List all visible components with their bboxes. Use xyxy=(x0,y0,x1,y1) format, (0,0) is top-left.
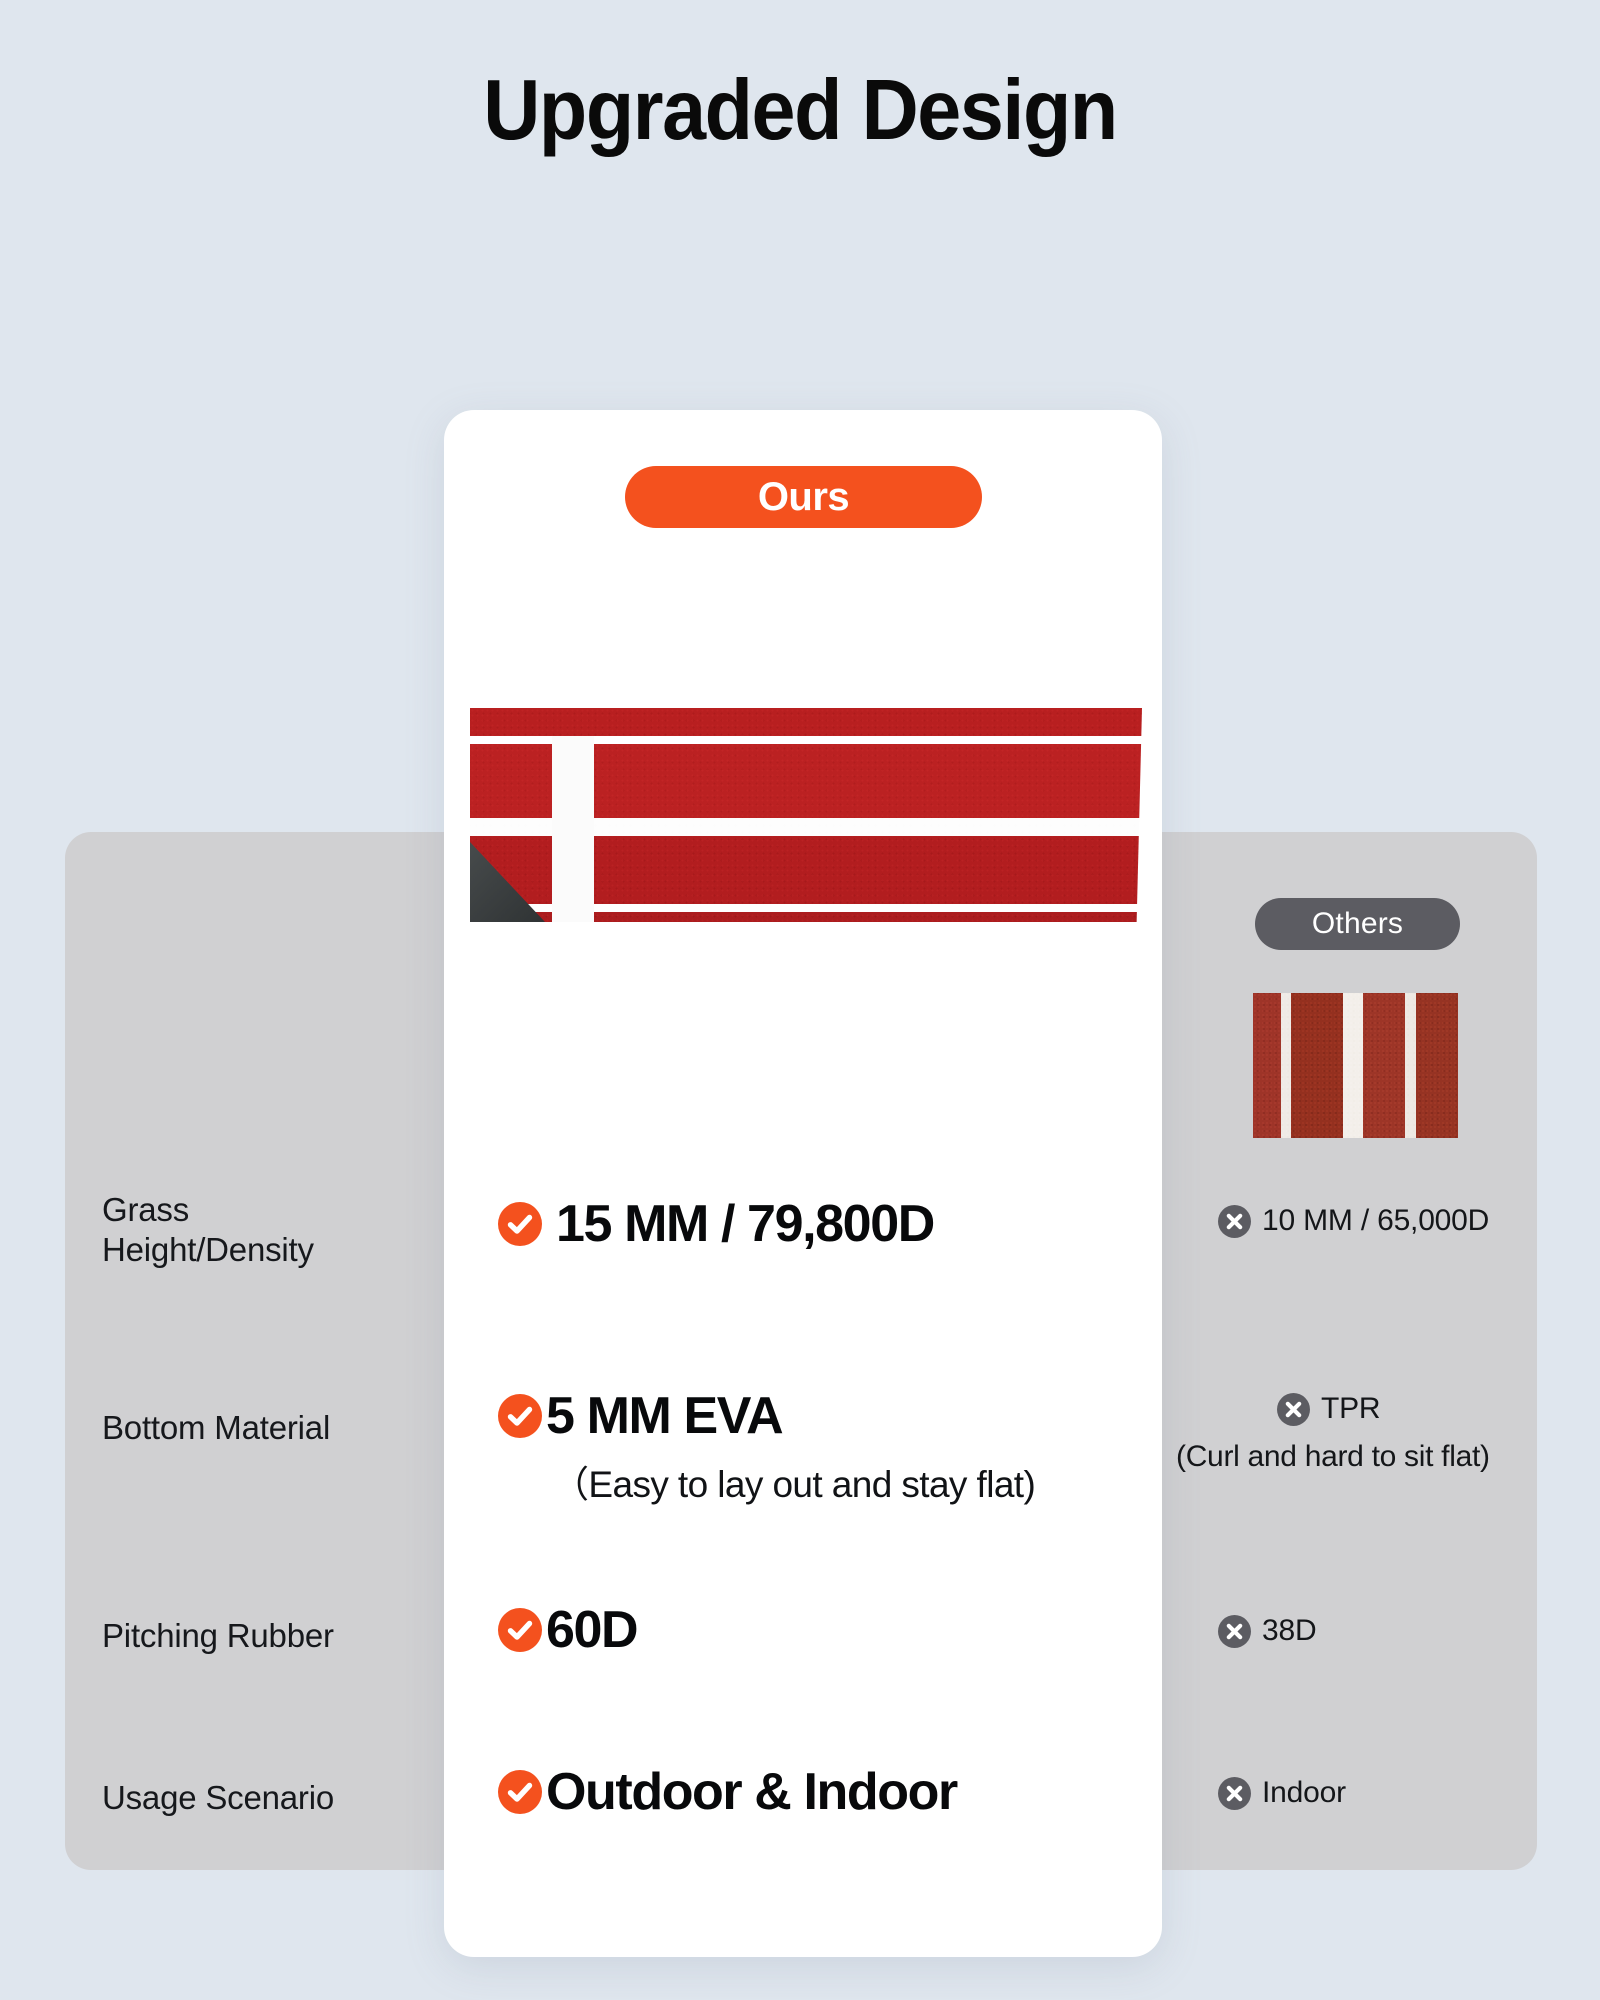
others-mat-texture xyxy=(1253,993,1458,1138)
ours-value-text: Outdoor & Indoor xyxy=(546,1762,957,1822)
row-label-bottom-material: Bottom Material xyxy=(102,1408,432,1448)
row-label-usage-scenario: Usage Scenario xyxy=(102,1778,432,1818)
others-product-image xyxy=(1253,993,1458,1138)
row-label-line-1: Usage Scenario xyxy=(102,1778,432,1818)
ours-value-pitching-rubber: 60D xyxy=(498,1600,637,1660)
others-value-grass-height-density: 10 MM / 65,000D xyxy=(1218,1204,1489,1238)
check-circle-icon xyxy=(498,1394,542,1438)
row-label-line-2: Height/Density xyxy=(102,1230,432,1270)
others-value-text: 38D xyxy=(1262,1614,1316,1648)
page-title: Upgraded Design xyxy=(56,62,1544,160)
row-label-grass-height-density: Grass Height/Density xyxy=(102,1190,432,1271)
ours-value-text: 60D xyxy=(546,1600,637,1660)
others-value-text: Indoor xyxy=(1262,1776,1346,1810)
ours-value-usage-scenario: Outdoor & Indoor xyxy=(498,1762,957,1822)
ours-value-note: （Easy to lay out and stay flat) xyxy=(552,1454,1035,1508)
cross-circle-icon xyxy=(1218,1777,1251,1810)
row-label-pitching-rubber: Pitching Rubber xyxy=(102,1616,432,1656)
ours-value-bottom-material: 5 MM EVA xyxy=(498,1386,782,1446)
infographic-stage: Upgraded Design Ours Others Grass Height… xyxy=(0,0,1600,2000)
others-value-text: 10 MM / 65,000D xyxy=(1262,1204,1489,1238)
others-value-note: (Curl and hard to sit flat) xyxy=(1176,1440,1490,1474)
mat-vertical-stripe xyxy=(552,736,594,922)
ours-value-text: 15 MM / 79,800D xyxy=(556,1194,934,1254)
others-value-usage-scenario: Indoor xyxy=(1218,1776,1346,1810)
others-value-text: TPR xyxy=(1321,1392,1380,1426)
ours-highlight-card xyxy=(444,410,1162,1957)
others-value-bottom-material: TPR xyxy=(1277,1392,1380,1426)
cross-circle-icon xyxy=(1277,1393,1310,1426)
check-circle-icon xyxy=(498,1608,542,1652)
check-circle-icon xyxy=(498,1770,542,1814)
ours-value-text: 5 MM EVA xyxy=(546,1386,782,1446)
row-label-line-1: Pitching Rubber xyxy=(102,1616,432,1656)
check-circle-icon xyxy=(498,1202,542,1246)
others-value-pitching-rubber: 38D xyxy=(1218,1614,1316,1648)
cross-circle-icon xyxy=(1218,1205,1251,1238)
row-label-line-1: Bottom Material xyxy=(102,1408,432,1448)
cross-circle-icon xyxy=(1218,1615,1251,1648)
ours-product-image xyxy=(470,708,1142,922)
others-badge: Others xyxy=(1255,898,1460,950)
row-label-line-1: Grass xyxy=(102,1190,432,1230)
ours-badge: Ours xyxy=(625,466,982,528)
ours-value-grass-height-density: 15 MM / 79,800D xyxy=(498,1194,934,1254)
